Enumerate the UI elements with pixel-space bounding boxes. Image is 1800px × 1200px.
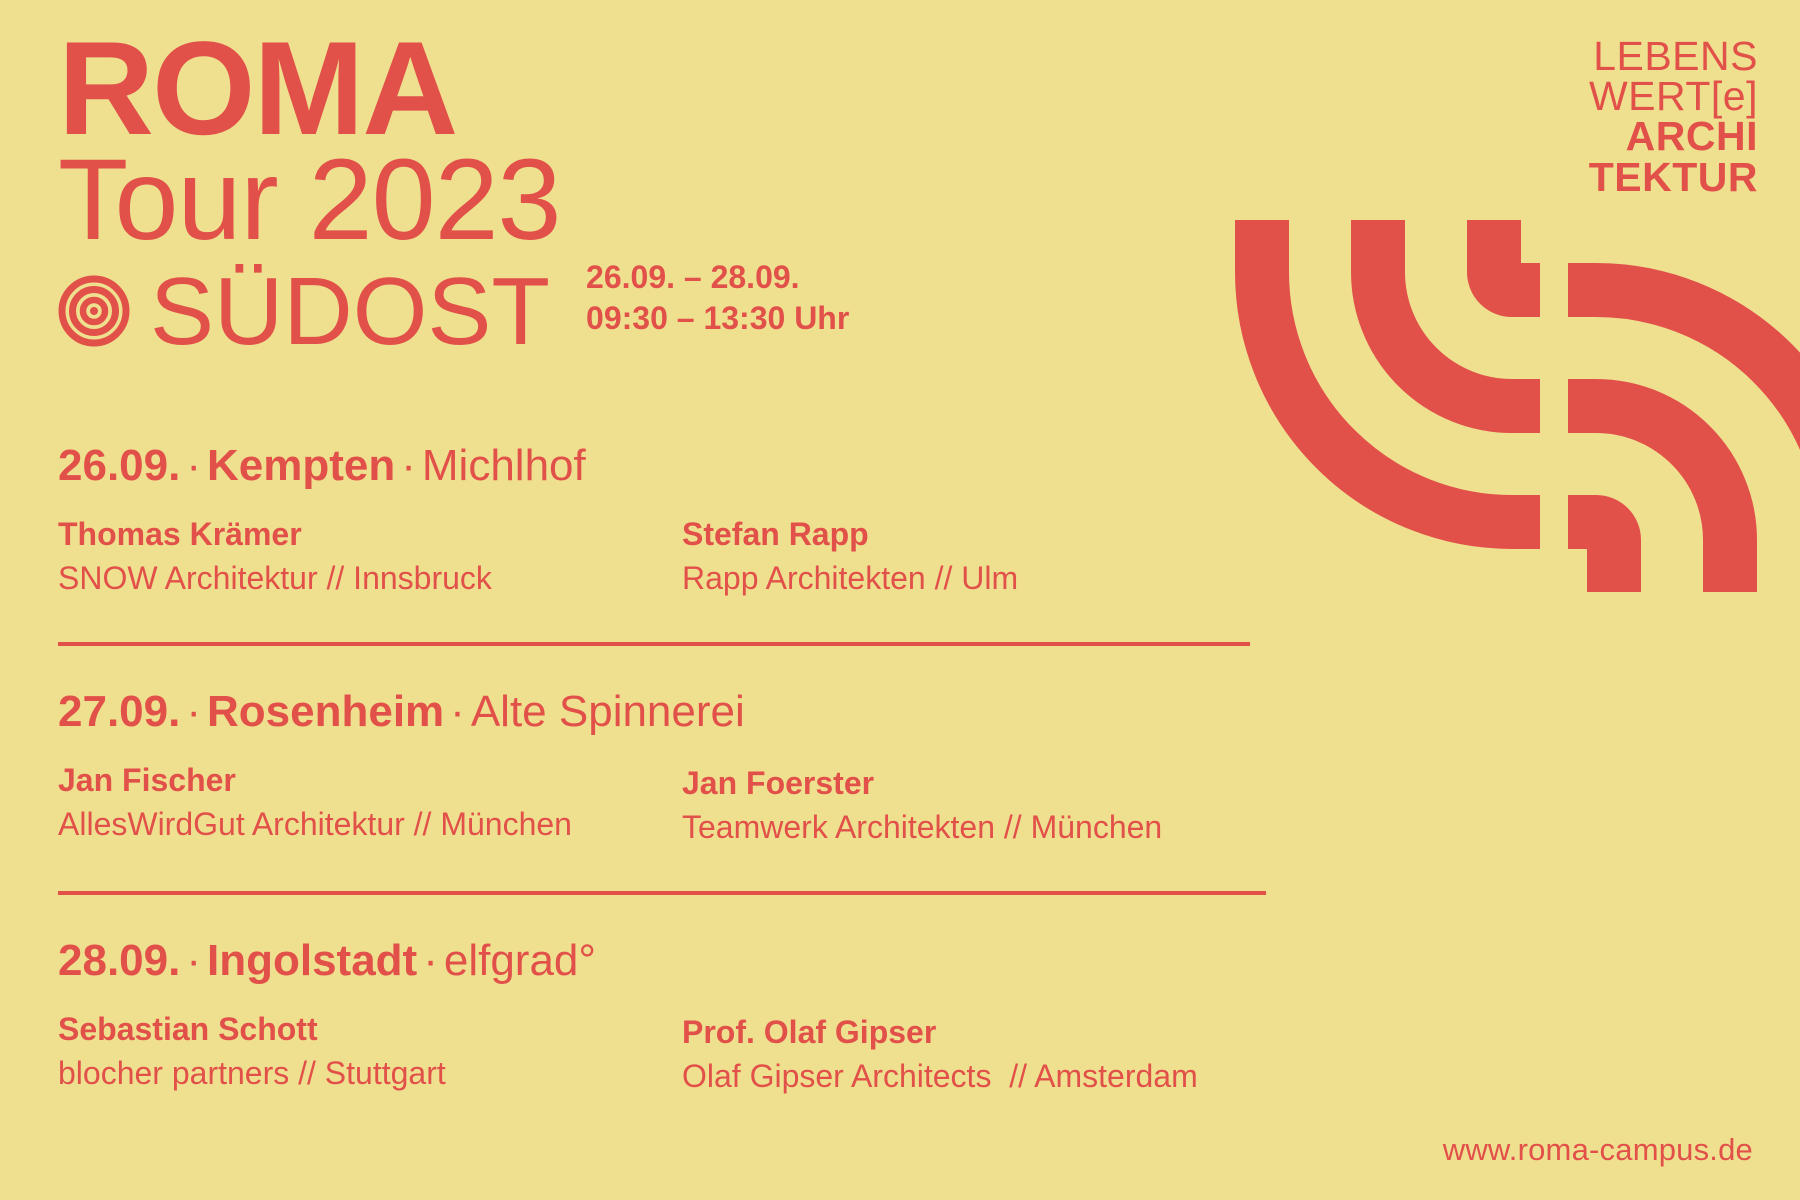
logo-line-lebens: LEBENS xyxy=(1589,36,1758,76)
website-link[interactable]: www.roma-campus.de xyxy=(1443,1132,1753,1168)
event-venue: Alte Spinnerei xyxy=(471,687,745,736)
target-icon xyxy=(58,275,130,347)
event-city: Rosenheim xyxy=(207,687,444,736)
speaker-item: Stefan Rapp Rapp Architekten // Ulm xyxy=(682,516,1306,598)
header-time-range: 09:30 – 13:30 Uhr xyxy=(586,298,849,339)
speaker-list: Sebastian Schott blocher partners // Stu… xyxy=(58,1011,1378,1096)
logo-line-archi: ARCHI xyxy=(1589,116,1758,156)
title-line-tour-year: Tour 2023 xyxy=(58,148,1158,254)
event-venue: elfgrad° xyxy=(444,936,596,985)
region-row: SÜDOST 26.09. – 28.09. 09:30 – 13:30 Uhr xyxy=(58,257,1158,355)
header-date-time: 26.09. – 28.09. 09:30 – 13:30 Uhr xyxy=(586,257,849,339)
event-separator: · xyxy=(417,936,444,985)
event-heading: 28.09.·Ingolstadt·elfgrad° xyxy=(58,937,1378,985)
event-city: Ingolstadt xyxy=(207,936,417,985)
speaker-firm: AllesWirdGut Architektur // München xyxy=(58,806,682,844)
speaker-name: Jan Fischer xyxy=(58,762,682,800)
event-city: Kempten xyxy=(207,441,395,490)
title-line-roma: ROMA xyxy=(58,26,1158,154)
event-item: 28.09.·Ingolstadt·elfgrad° Sebastian Sch… xyxy=(58,937,1378,1096)
speaker-name: Stefan Rapp xyxy=(682,516,1306,554)
speaker-firm: Teamwerk Architekten // München xyxy=(682,809,1306,847)
speaker-list: Jan Fischer AllesWirdGut Architektur // … xyxy=(58,762,1378,847)
logo-line-werte: WERT[e] xyxy=(1589,76,1758,116)
event-date: 28.09. xyxy=(58,936,180,985)
poster-canvas: ROMA Tour 2023 SÜDOST 26.09. – 28.09. 09… xyxy=(0,0,1800,1200)
speaker-name: Sebastian Schott xyxy=(58,1011,682,1049)
event-separator: · xyxy=(180,687,207,736)
event-date: 27.09. xyxy=(58,687,180,736)
event-heading: 26.09.·Kempten·Michlhof xyxy=(58,442,1378,490)
speaker-name: Thomas Krämer xyxy=(58,516,682,554)
event-separator: · xyxy=(444,687,471,736)
event-separator: · xyxy=(395,441,422,490)
section-divider xyxy=(58,891,1266,895)
poster-header: ROMA Tour 2023 SÜDOST 26.09. – 28.09. 09… xyxy=(58,26,1158,355)
speaker-firm: SNOW Architektur // Innsbruck xyxy=(58,560,682,598)
speaker-item: Prof. Olaf Gipser Olaf Gipser Architects… xyxy=(682,1011,1306,1096)
event-separator: · xyxy=(180,441,207,490)
event-heading: 27.09.·Rosenheim·Alte Spinnerei xyxy=(58,688,1378,736)
event-item: 26.09.·Kempten·Michlhof Thomas Krämer SN… xyxy=(58,442,1378,598)
speaker-name: Prof. Olaf Gipser xyxy=(682,1014,1306,1052)
header-date-range: 26.09. – 28.09. xyxy=(586,257,849,298)
brand-logo: LEBENS WERT[e] ARCHI TEKTUR xyxy=(1589,36,1758,197)
speaker-firm: Rapp Architekten // Ulm xyxy=(682,560,1306,598)
event-item: 27.09.·Rosenheim·Alte Spinnerei Jan Fisc… xyxy=(58,688,1378,847)
speaker-firm: Olaf Gipser Architects // Amsterdam xyxy=(682,1058,1306,1096)
speaker-item: Thomas Krämer SNOW Architektur // Innsbr… xyxy=(58,516,682,598)
title-region: SÜDOST xyxy=(150,269,550,355)
speaker-firm: blocher partners // Stuttgart xyxy=(58,1055,682,1093)
speaker-item: Jan Foerster Teamwerk Architekten // Mün… xyxy=(682,762,1306,847)
event-separator: · xyxy=(180,936,207,985)
section-divider xyxy=(58,642,1250,646)
event-venue: Michlhof xyxy=(422,441,586,490)
event-date: 26.09. xyxy=(58,441,180,490)
speaker-list: Thomas Krämer SNOW Architektur // Innsbr… xyxy=(58,516,1378,598)
speaker-item: Sebastian Schott blocher partners // Stu… xyxy=(58,1011,682,1096)
logo-line-tektur: TEKTUR xyxy=(1589,157,1758,197)
event-list: 26.09.·Kempten·Michlhof Thomas Krämer SN… xyxy=(58,442,1378,1096)
speaker-item: Jan Fischer AllesWirdGut Architektur // … xyxy=(58,762,682,847)
speaker-name: Jan Foerster xyxy=(682,765,1306,803)
